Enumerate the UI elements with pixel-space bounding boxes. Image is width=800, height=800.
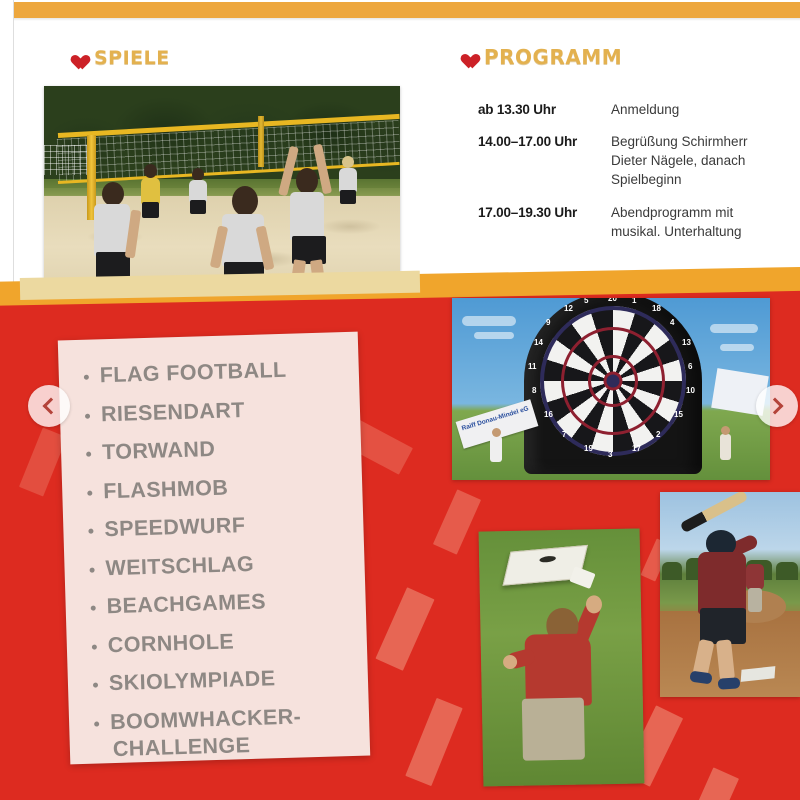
dart-number: 11 (528, 362, 536, 371)
photo-person (720, 434, 731, 460)
page-left-edge (0, 0, 14, 300)
photo-shorts (700, 608, 746, 644)
dart-number: 8 (532, 386, 536, 395)
games-list-card: FLAG FOOTBALL RIESENDART TORWAND FLASHMO… (58, 332, 370, 765)
programm-description: Abendprogramm mit musikal. Unterhaltung (611, 203, 778, 241)
photo-cloud (720, 344, 754, 351)
list-item: SKIOLYMPIADE (92, 666, 359, 695)
section-heading-spiele: spiele (68, 40, 170, 71)
list-item: TORWAND (85, 435, 352, 464)
photo-shorts (522, 698, 585, 761)
dart-number: 7 (562, 430, 566, 439)
photo-shoe (718, 677, 741, 690)
list-item: BEACHGAMES (89, 589, 356, 618)
baseball-bat (680, 492, 749, 533)
photo-torso (525, 633, 592, 706)
programm-schedule: ab 13.30 Uhr Anmeldung 14.00–17.00 Uhr B… (478, 100, 778, 254)
dart-number: 12 (564, 304, 573, 313)
list-item: CORNHOLE (91, 627, 358, 656)
carousel-next-button[interactable] (756, 385, 798, 427)
programm-description: Begrüßung Schirmherr Dieter Nägele, dana… (611, 132, 778, 189)
programm-time: 14.00–17.00 Uhr (478, 132, 611, 189)
dart-number: 18 (652, 304, 661, 313)
photo-person (721, 426, 730, 435)
photo-tree (776, 562, 798, 580)
list-item: FLAG FOOTBALL (83, 358, 350, 387)
list-item: WEITSCHLAG (88, 550, 355, 579)
inflatable-frame: 20 1 18 4 13 6 10 15 2 17 3 19 7 16 8 11… (524, 298, 702, 474)
programm-description: Anmeldung (611, 100, 679, 119)
photo-cloud (710, 324, 758, 333)
game-label: FLASHMOB (103, 475, 229, 503)
dart-number: 6 (688, 362, 692, 371)
carousel-prev-button[interactable] (28, 385, 70, 427)
games-list: FLAG FOOTBALL RIESENDART TORWAND FLASHMO… (59, 358, 371, 762)
dart-number: 15 (674, 410, 683, 419)
cornhole-bag (569, 566, 595, 589)
game-label: SPEEDWURF (104, 513, 246, 541)
programm-row: ab 13.30 Uhr Anmeldung (478, 100, 778, 119)
dart-number: 1 (632, 298, 636, 305)
dart-number: 4 (670, 318, 674, 327)
game-label: FLAG FOOTBALL (99, 358, 286, 388)
game-label: BEACHGAMES (106, 589, 266, 618)
dart-number: 9 (546, 318, 550, 327)
dart-number: 20 (608, 298, 617, 303)
photo-pitcher (746, 564, 764, 590)
dart-number: 2 (656, 430, 660, 439)
list-item: RIESENDART (84, 396, 351, 425)
baseball-photo (660, 492, 800, 697)
programm-row: 14.00–17.00 Uhr Begrüßung Schirmherr Die… (478, 132, 778, 189)
dart-number: 16 (544, 410, 553, 419)
chevron-left-icon (43, 398, 60, 415)
photo-person (492, 428, 501, 437)
game-label-continuation: CHALLENGE (111, 732, 361, 761)
photo-person (490, 436, 502, 462)
programm-time: ab 13.30 Uhr (478, 100, 611, 119)
programm-title: programm (484, 38, 622, 71)
game-label: BOOMWHACKER- (110, 704, 302, 734)
programm-row: 17.00–19.30 Uhr Abendprogramm mit musika… (478, 203, 778, 241)
dart-number: 17 (632, 444, 641, 453)
chevron-right-icon (767, 398, 784, 415)
photo-pitcher-legs (748, 588, 762, 612)
photo-torso (698, 552, 746, 614)
dart-number: 19 (584, 444, 593, 453)
game-label: CORNHOLE (107, 629, 234, 657)
list-item: SPEEDWURF (87, 512, 354, 541)
photo-cloud (462, 316, 516, 326)
dart-number: 3 (608, 450, 612, 459)
list-item: FLASHMOB (86, 473, 353, 502)
game-label: WEITSCHLAG (105, 551, 254, 579)
beach-volleyball-photo (44, 86, 400, 298)
dartboard-bullseye (607, 375, 620, 388)
heart-icon (458, 47, 475, 63)
section-heading-programm: programm (458, 38, 622, 71)
spiele-title: spiele (94, 40, 170, 71)
cornhole-photo (479, 528, 645, 786)
dart-number: 13 (682, 338, 691, 347)
giant-dartboard-photo: 20 1 18 4 13 6 10 15 2 17 3 19 7 16 8 11… (452, 298, 770, 480)
heart-icon (68, 48, 85, 64)
poster-page: spiele programm (0, 0, 800, 800)
game-label: RIESENDART (101, 398, 245, 426)
top-bar-shadow (14, 18, 800, 21)
dart-number: 5 (584, 298, 588, 305)
programm-time: 17.00–19.30 Uhr (478, 203, 611, 241)
game-label: TORWAND (102, 437, 216, 464)
top-orange-bar (14, 2, 800, 18)
dart-number: 10 (686, 386, 695, 395)
game-label: SKIOLYMPIADE (109, 666, 276, 695)
dart-number: 14 (534, 338, 543, 347)
photo-net-post-right (258, 116, 264, 167)
list-item: BOOMWHACKER- CHALLENGE (93, 704, 360, 761)
photo-tree (662, 562, 682, 580)
cornhole-hole (539, 555, 557, 562)
photo-cloud (474, 332, 514, 339)
